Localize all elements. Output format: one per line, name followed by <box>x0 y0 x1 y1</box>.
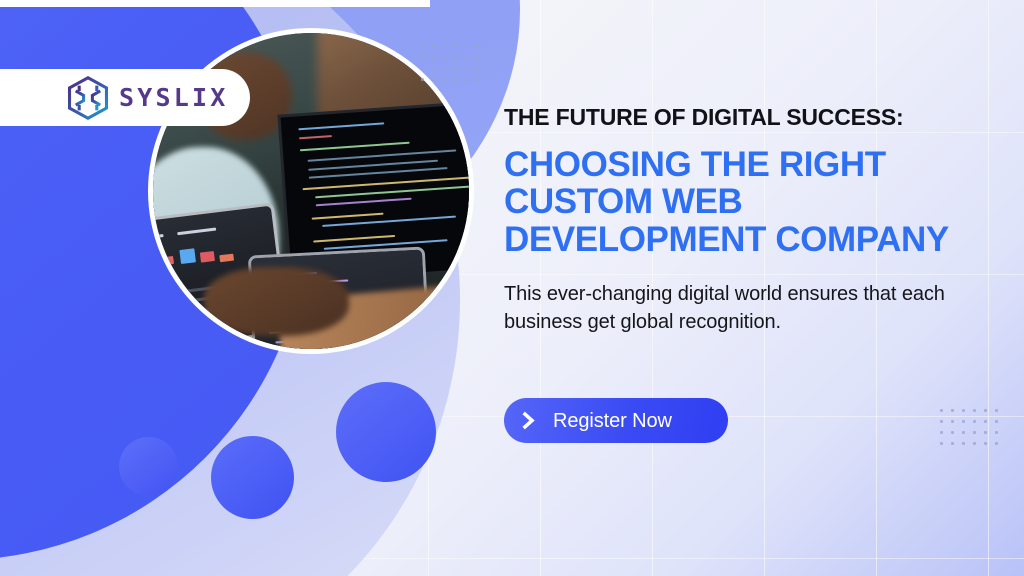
brand-logo-bar[interactable]: SYSLIX <box>0 69 250 126</box>
top-white-strip <box>0 0 430 7</box>
chevron-right-icon <box>520 411 537 430</box>
brand-wordmark: SYSLIX <box>119 85 229 110</box>
promotional-banner: SYSLIX THE FUTURE OF DIGITAL SUCCESS: CH… <box>0 0 1024 576</box>
eyebrow-text: THE FUTURE OF DIGITAL SUCCESS: <box>504 104 1004 131</box>
hexagon-logo-icon <box>66 76 110 120</box>
decorative-circle-large <box>336 382 436 482</box>
register-now-button[interactable]: Register Now <box>504 398 728 443</box>
subcopy-text: This ever-changing digital world ensures… <box>504 280 992 337</box>
text-content-block: THE FUTURE OF DIGITAL SUCCESS: CHOOSING … <box>504 104 1004 337</box>
page-title: CHOOSING THE RIGHT CUSTOM WEB DEVELOPMEN… <box>504 146 1004 258</box>
decorative-circle-small <box>119 437 178 496</box>
register-now-label: Register Now <box>553 411 672 431</box>
dot-grid-bottom <box>940 409 998 445</box>
photo-hands <box>204 267 349 337</box>
dot-grid-top <box>421 45 479 81</box>
decorative-circle-medium <box>211 436 294 519</box>
